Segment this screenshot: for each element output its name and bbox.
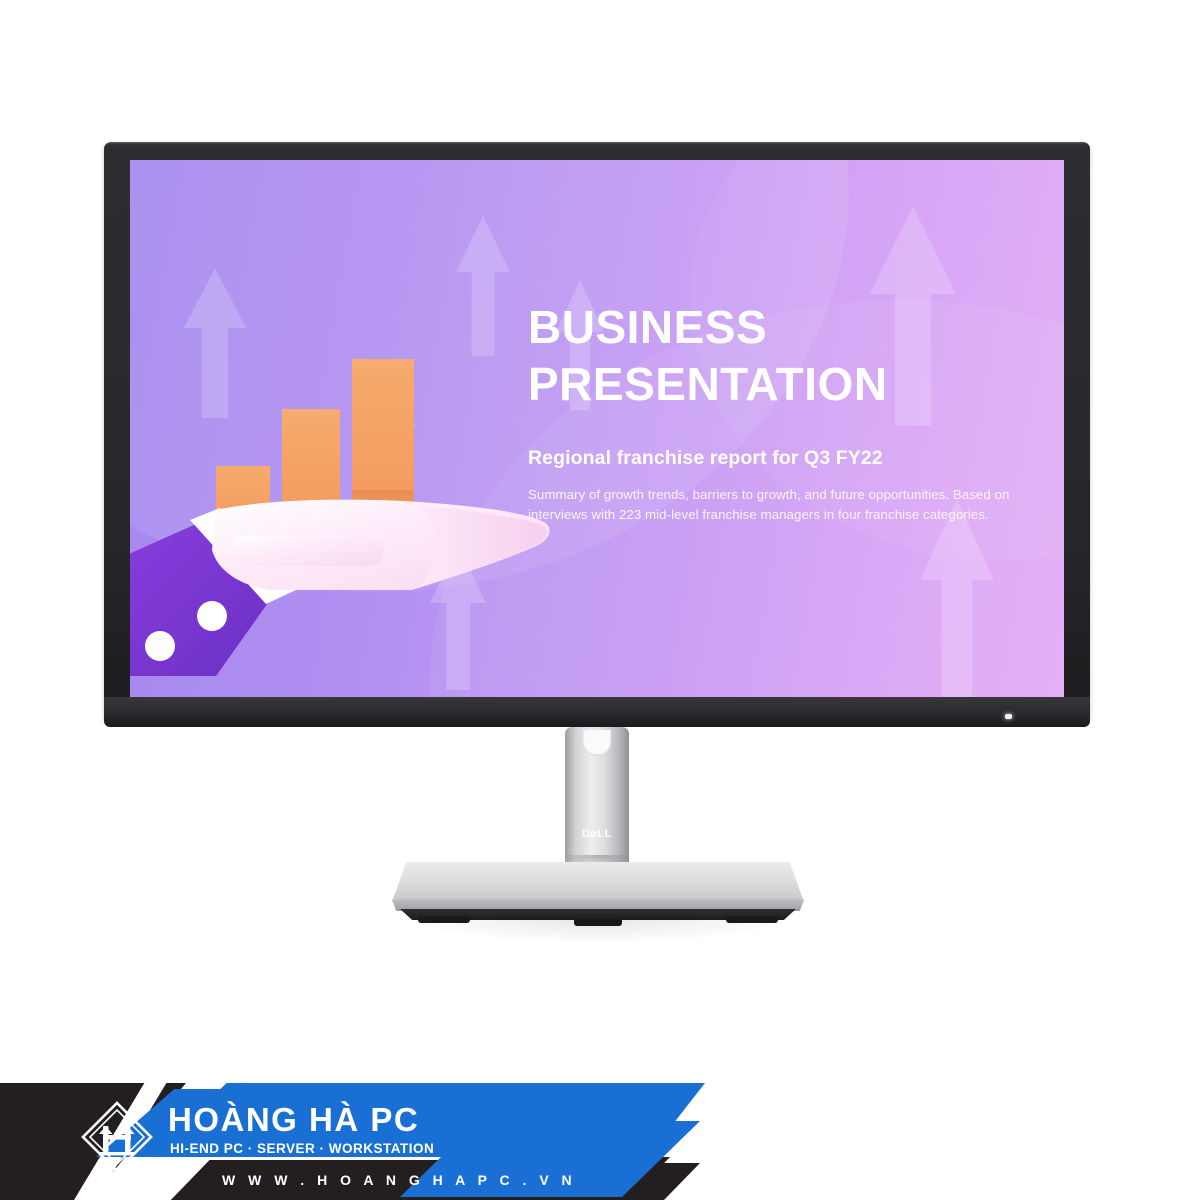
hoang-ha-logo-icon xyxy=(80,1100,154,1174)
arrow-stem xyxy=(941,580,972,698)
power-indicator-icon[interactable] xyxy=(1005,714,1012,719)
presentation-slide: BUSINESS PRESENTATION Regional franchise… xyxy=(130,160,1064,698)
slide-body-text: Summary of growth trends, barriers to gr… xyxy=(528,485,1023,524)
dell-logo: D⌀LL xyxy=(565,827,629,840)
banner-brand-name: HOÀNG HÀ PC xyxy=(168,1102,419,1138)
arrow-head xyxy=(870,206,956,294)
finger-fold xyxy=(230,536,384,566)
hand-holding-bars-illustration xyxy=(130,310,550,698)
monitor-chin xyxy=(104,697,1090,727)
dell-monitor: BUSINESS PRESENTATION Regional franchise… xyxy=(0,0,1200,1200)
arrow-6-icon xyxy=(920,500,994,698)
slide-subtitle: Regional franchise report for Q3 FY22 xyxy=(528,447,1048,470)
banner-website-url: W W W . H O A N G H A P C . V N xyxy=(222,1172,576,1188)
arrow-head xyxy=(456,216,510,272)
slide-title: BUSINESS PRESENTATION xyxy=(528,299,1028,413)
cuff-button-1 xyxy=(145,631,175,661)
banner-tagline: HI-END PC · SERVER · WORKSTATION xyxy=(170,1141,434,1156)
base-shadow xyxy=(400,918,796,944)
monitor-screen[interactable]: BUSINESS PRESENTATION Regional franchise… xyxy=(130,160,1064,698)
monitor-stand-base xyxy=(392,862,804,902)
cuff-button-2 xyxy=(197,601,227,631)
cable-management-hole-icon xyxy=(583,730,611,756)
hand-graphic xyxy=(130,450,560,690)
